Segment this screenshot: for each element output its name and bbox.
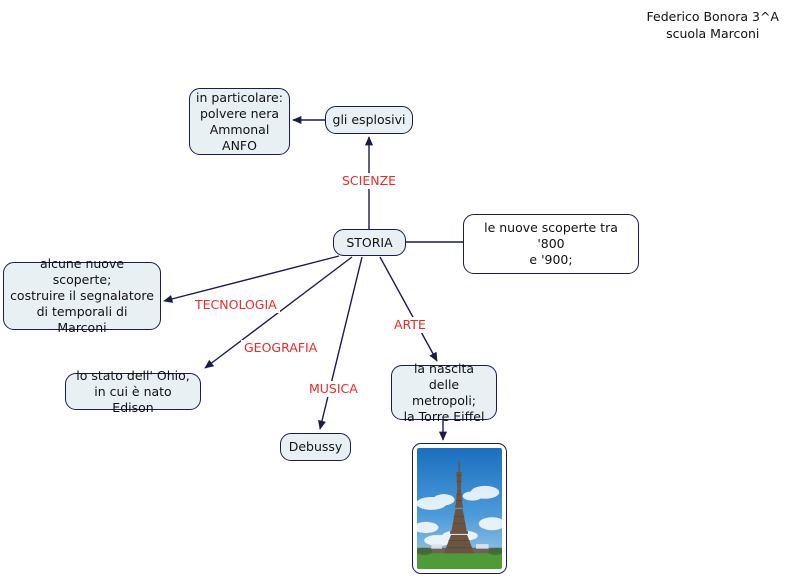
link-label-geografia[interactable]: GEOGRAFIA: [241, 340, 320, 356]
eiffel-tower-image: [417, 448, 502, 569]
link-line-arte: [380, 257, 437, 361]
node-storia[interactable]: STORIA: [333, 229, 406, 256]
node-nuove-scoperte-800-900[interactable]: le nuove scoperte tra '800 e '900;: [463, 214, 639, 274]
eiffel-tower-photo[interactable]: [412, 443, 507, 574]
link-label-musica[interactable]: MUSICA: [306, 381, 361, 397]
node-gli-esplosivi[interactable]: gli esplosivi: [325, 106, 413, 134]
link-label-tecnologia[interactable]: TECNOLOGIA: [192, 297, 280, 313]
link-line-musica: [320, 257, 362, 429]
concept-map-canvas: Federico Bonora 3^A scuola Marconi in pa…: [0, 0, 793, 580]
node-in-particolare[interactable]: in particolare: polvere nera Ammonal ANF…: [189, 88, 290, 155]
link-label-arte[interactable]: ARTE: [391, 317, 429, 333]
node-debussy[interactable]: Debussy: [280, 433, 351, 461]
link-line-tecnologia: [164, 256, 339, 301]
link-label-scienze[interactable]: SCIENZE: [339, 173, 399, 189]
node-metropoli-eiffel[interactable]: la nascita delle metropoli; la Torre Eif…: [391, 365, 497, 420]
eiffel-tower-illustration: [417, 448, 502, 569]
node-ohio-edison[interactable]: lo stato dell' Ohio, in cui è nato Ediso…: [65, 373, 201, 410]
node-scoperte-marconi[interactable]: alcune nuove scoperte; costruire il segn…: [3, 262, 161, 330]
